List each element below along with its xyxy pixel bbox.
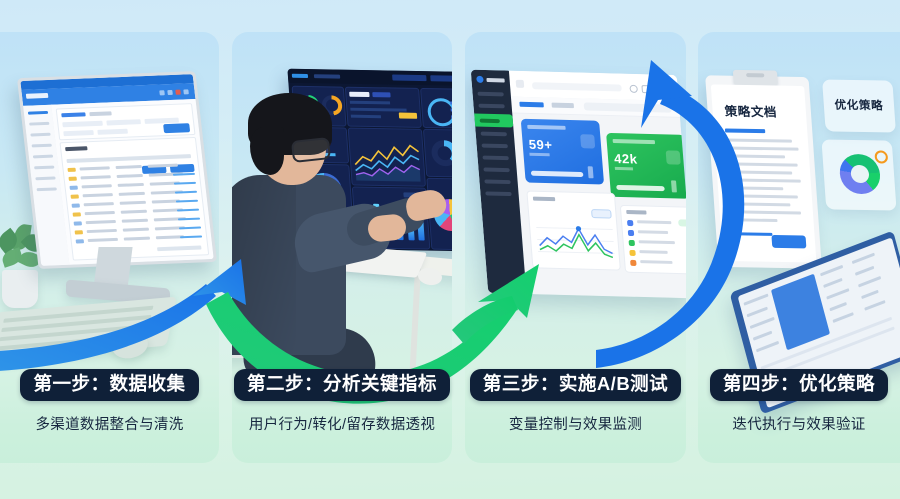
variant-b-card: 42k [606,133,686,199]
ab-test-dashboard-window: 59+ 42k [471,70,686,299]
infographic-stage: 59+ 42k [0,0,900,499]
optimization-strategy-label: 优化策略 [823,96,894,113]
step-3-subtitle: 变量控制与效果监测 [465,413,686,434]
desktop-monitor [17,71,217,269]
clipboard-title: 策略文档 [724,101,778,121]
strategy-clipboard: 策略文档 [705,75,822,268]
step-4-subtitle: 迭代执行与效果验证 [698,413,900,434]
data-analyst-person [232,87,378,387]
metrics-line-chart [526,190,621,270]
donut-accent-dot-icon [874,150,888,163]
segment-legend-list [620,205,686,275]
caption-step-3: 第三步：实施A/B测试 变量控制与效果监测 [465,369,686,434]
caption-step-1: 第一步：数据收集 多渠道数据整合与清洗 [0,369,219,434]
step-3-badge: 第三步：实施A/B测试 [470,369,681,401]
optimization-strategy-card: 优化策略 [822,79,896,132]
data-table-dashboard-screen [20,74,213,266]
variant-a-card: 59+ [521,119,604,185]
step-2-badge: 第二步：分析关键指标 [234,369,450,401]
caption-step-4: 第四步：优化策略 迭代执行与效果验证 [698,369,900,434]
strategy-donut-card [821,139,896,210]
caption-step-2: 第二步：分析关键指标 用户行为/转化/留存数据透视 [232,369,452,434]
clipboard-clamp-icon [733,70,778,86]
step-1-badge: 第一步：数据收集 [20,369,198,401]
step-4-badge: 第四步：优化策略 [710,369,888,401]
clipboard-submit-button[interactable] [771,235,806,249]
step-2-subtitle: 用户行为/转化/留存数据透视 [232,413,452,434]
step-1-subtitle: 多渠道数据整合与清洗 [0,413,219,434]
